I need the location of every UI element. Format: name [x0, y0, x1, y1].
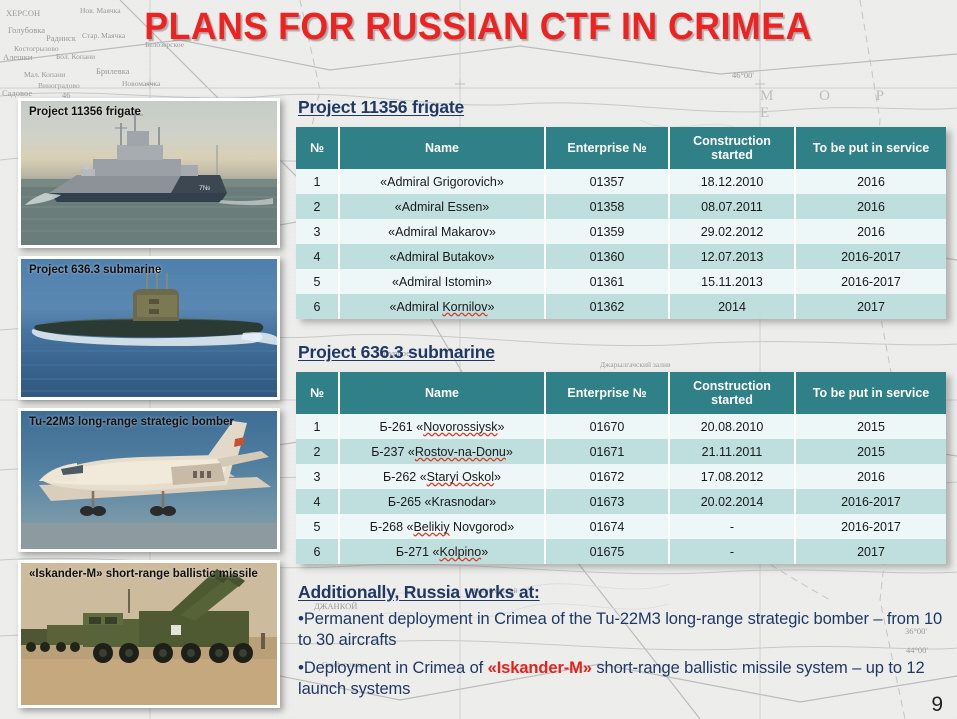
cell-service: 2017: [796, 539, 946, 564]
cell-construction-started: 15.11.2013: [670, 269, 796, 294]
submarine-table-body: 1Б-261 «Novorossiysk»0167020.08.20102015…: [296, 414, 946, 564]
construction-line-2: started: [711, 148, 753, 162]
photo-iskander: «Iskander-M» short-range ballistic missi…: [21, 563, 277, 705]
cell-name: «Admiral Istomin»: [340, 269, 546, 294]
cell-construction-started: 29.02.2012: [670, 219, 796, 244]
bullet-1-text: Permanent deployment in Crimea of the Tu…: [298, 610, 942, 649]
table-row: 5«Admiral Istomin»0136115.11.20132016-20…: [296, 269, 946, 294]
cell-enterprise: 01362: [546, 294, 670, 319]
photo-caption-frigate: Project 11356 frigate: [29, 105, 271, 119]
cell-construction-started: -: [670, 539, 796, 564]
col-header-service: To be put in service: [796, 127, 946, 169]
cell-name: Б-271 «Kolpino»: [340, 539, 546, 564]
cell-no: 1: [296, 169, 340, 194]
cell-construction-started: -: [670, 514, 796, 539]
table-row: 1Б-261 «Novorossiysk»0167020.08.20102015: [296, 414, 946, 439]
cell-name: «Admiral Makarov»: [340, 219, 546, 244]
bullet-2-pre: Deployment in Crimea of: [304, 659, 488, 677]
table-wrapper-frigate: № Name Enterprise № Construction started…: [296, 127, 946, 319]
map-place-label: Виноградово: [38, 81, 80, 90]
col-header-enterprise: Enterprise №: [546, 127, 670, 169]
cell-construction-started: 2014: [670, 294, 796, 319]
bullet-item-2: •Deployment in Crimea of «Iskander-M» sh…: [298, 657, 944, 700]
photo-caption-iskander: «Iskander-M» short-range ballistic missi…: [29, 567, 271, 581]
map-place-label: Джарылгачский залив: [600, 360, 671, 369]
cell-service: 2016-2017: [796, 489, 946, 514]
submarine-photo-scene: [21, 259, 277, 397]
cell-enterprise: 01670: [546, 414, 670, 439]
map-place-label: Новомаячка: [122, 79, 160, 88]
cell-name: «Admiral Grigorovich»: [340, 169, 546, 194]
svg-text:7№: 7№: [199, 185, 210, 192]
cell-service: 2015: [796, 439, 946, 464]
table-wrapper-submarine: № Name Enterprise № Construction started…: [296, 372, 946, 564]
photo-card-frigate: 7№ Project 11356 frigate: [18, 98, 280, 248]
table-row: 3Б-262 «Staryi Oskol»0167217.08.20122016: [296, 464, 946, 489]
table-row: 6Б-271 «Kolpino»01675-2017: [296, 539, 946, 564]
cell-name: Б-237 «Rostov-na-Donu»: [340, 439, 546, 464]
map-place-label: Бол. Копани: [56, 52, 95, 61]
cell-no: 4: [296, 489, 340, 514]
cell-no: 2: [296, 439, 340, 464]
photo-submarine: Project 636.3 submarine: [21, 259, 277, 397]
cell-enterprise: 01360: [546, 244, 670, 269]
map-place-label: 46°00': [732, 70, 754, 80]
cell-enterprise: 01358: [546, 194, 670, 219]
cell-construction-started: 18.12.2010: [670, 169, 796, 194]
table-row: 3«Admiral Makarov»0135929.02.20122016: [296, 219, 946, 244]
bullet-2-highlight: «Iskander-M»: [488, 659, 592, 677]
photo-card-iskander: «Iskander-M» short-range ballistic missi…: [18, 560, 280, 708]
cell-enterprise: 01675: [546, 539, 670, 564]
col-header-construction: Construction started: [670, 127, 796, 169]
cell-service: 2016: [796, 169, 946, 194]
page-title: PLANS FOR RUSSIAN CTF IN CRIMEA: [145, 6, 812, 49]
cell-construction-started: 17.08.2012: [670, 464, 796, 489]
cell-no: 3: [296, 219, 340, 244]
additionally-bullet-list: •Permanent deployment in Crimea of the T…: [298, 608, 944, 706]
cell-construction-started: 21.11.2011: [670, 439, 796, 464]
bullet-item-1: •Permanent deployment in Crimea of the T…: [298, 608, 944, 651]
construction-line-2: started: [711, 393, 753, 407]
frigate-photo-scene: 7№: [21, 101, 277, 245]
cell-service: 2016: [796, 194, 946, 219]
table-row: 2Б-237 «Rostov-na-Donu»0167121.11.201120…: [296, 439, 946, 464]
cell-enterprise: 01674: [546, 514, 670, 539]
table-header-row: № Name Enterprise № Construction started…: [296, 127, 946, 169]
section-heading-submarine: Project 636.3 submarine: [298, 342, 495, 363]
slide-title-bar: PLANS FOR RUSSIAN CTF IN CRIMEA: [0, 6, 957, 49]
section-heading-frigate: Project 11356 frigate: [298, 97, 464, 118]
frigate-table-body: 1«Admiral Grigorovich»0135718.12.2010201…: [296, 169, 946, 319]
col-header-no: №: [296, 127, 340, 169]
photo-caption-bomber: Tu-22M3 long-range strategic bomber: [29, 415, 271, 429]
page-number: 9: [931, 693, 943, 717]
cell-construction-started: 20.08.2010: [670, 414, 796, 439]
cell-name: Б-268 «Belikiy Novgorod»: [340, 514, 546, 539]
photo-card-submarine: Project 636.3 submarine: [18, 256, 280, 400]
cell-name: «Admiral Kornilov»: [340, 294, 546, 319]
bomber-photo-scene: [21, 411, 277, 549]
map-sea-label: М О Р Е: [760, 88, 957, 122]
col-header-service: To be put in service: [796, 372, 946, 414]
cell-enterprise: 01672: [546, 464, 670, 489]
photo-card-bomber: Tu-22M3 long-range strategic bomber: [18, 408, 280, 552]
cell-enterprise: 01671: [546, 439, 670, 464]
cell-service: 2016: [796, 464, 946, 489]
map-place-label: Мал. Копани: [24, 70, 65, 79]
table-row: 4Б-265 «Krasnodar»0167320.02.20142016-20…: [296, 489, 946, 514]
cell-no: 3: [296, 464, 340, 489]
cell-no: 2: [296, 194, 340, 219]
cell-enterprise: 01361: [546, 269, 670, 294]
cell-construction-started: 12.07.2013: [670, 244, 796, 269]
section-heading-additionally: Additionally, Russia works at:: [298, 582, 540, 603]
map-place-label: Садовое: [2, 88, 32, 98]
cell-no: 6: [296, 539, 340, 564]
cell-service: 2016-2017: [796, 244, 946, 269]
construction-line-1: Construction: [693, 379, 771, 393]
cell-enterprise: 01359: [546, 219, 670, 244]
cell-name: «Admiral Butakov»: [340, 244, 546, 269]
cell-service: 2017: [796, 294, 946, 319]
submarine-table: № Name Enterprise № Construction started…: [296, 372, 946, 564]
cell-no: 5: [296, 269, 340, 294]
table-row: 2«Admiral Essen»0135808.07.20112016: [296, 194, 946, 219]
cell-service: 2015: [796, 414, 946, 439]
cell-name: Б-265 «Krasnodar»: [340, 489, 546, 514]
cell-construction-started: 20.02.2014: [670, 489, 796, 514]
table-header-row: № Name Enterprise № Construction started…: [296, 372, 946, 414]
iskander-photo-scene: [21, 563, 277, 705]
cell-no: 1: [296, 414, 340, 439]
photo-bomber: Tu-22M3 long-range strategic bomber: [21, 411, 277, 549]
cell-service: 2016-2017: [796, 269, 946, 294]
cell-no: 4: [296, 244, 340, 269]
construction-line-1: Construction: [693, 134, 771, 148]
col-header-construction: Construction started: [670, 372, 796, 414]
map-place-label: Алешки: [3, 52, 32, 62]
cell-construction-started: 08.07.2011: [670, 194, 796, 219]
photo-frigate: 7№ Project 11356 frigate: [21, 101, 277, 245]
cell-service: 2016: [796, 219, 946, 244]
table-row: 5Б-268 «Belikiy Novgorod»01674-2016-2017: [296, 514, 946, 539]
col-header-enterprise: Enterprise №: [546, 372, 670, 414]
cell-no: 5: [296, 514, 340, 539]
cell-enterprise: 01673: [546, 489, 670, 514]
table-row: 1«Admiral Grigorovich»0135718.12.2010201…: [296, 169, 946, 194]
cell-name: «Admiral Essen»: [340, 194, 546, 219]
col-header-no: №: [296, 372, 340, 414]
map-place-label: Брилевка: [96, 66, 129, 76]
table-row: 4«Admiral Butakov»0136012.07.20132016-20…: [296, 244, 946, 269]
table-row: 6«Admiral Kornilov»0136220142017: [296, 294, 946, 319]
cell-name: Б-262 «Staryi Oskol»: [340, 464, 546, 489]
cell-no: 6: [296, 294, 340, 319]
cell-enterprise: 01357: [546, 169, 670, 194]
frigate-table: № Name Enterprise № Construction started…: [296, 127, 946, 319]
col-header-name: Name: [340, 127, 546, 169]
cell-service: 2016-2017: [796, 514, 946, 539]
cell-name: Б-261 «Novorossiysk»: [340, 414, 546, 439]
col-header-name: Name: [340, 372, 546, 414]
photo-caption-submarine: Project 636.3 submarine: [29, 263, 271, 277]
